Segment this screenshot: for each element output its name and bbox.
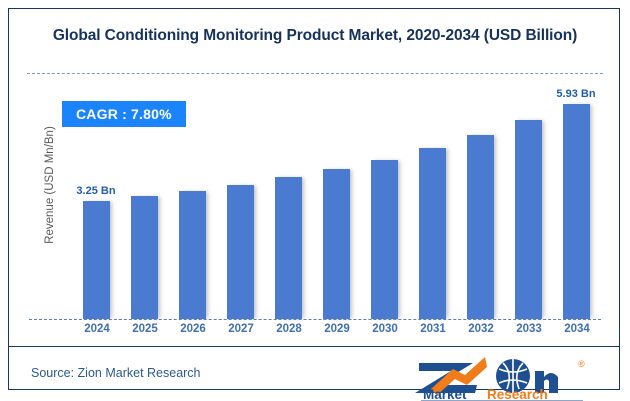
bar-2024[interactable] bbox=[83, 201, 110, 319]
bar-value-label-2034: 5.93 Bn bbox=[543, 88, 609, 100]
chart-card: Global Conditioning Monitoring Product M… bbox=[8, 8, 620, 390]
x-tick-2029: 2029 bbox=[313, 323, 361, 335]
footer-divider bbox=[9, 346, 619, 347]
bar-2031[interactable] bbox=[419, 148, 446, 319]
bar-2025[interactable] bbox=[131, 196, 158, 319]
source-note: Source: Zion Market Research bbox=[31, 366, 201, 380]
bar-2028[interactable] bbox=[275, 177, 302, 319]
x-tick-2026: 2026 bbox=[169, 323, 217, 335]
bar-2030[interactable] bbox=[371, 160, 398, 319]
bar-2027[interactable] bbox=[227, 185, 254, 319]
x-tick-2032: 2032 bbox=[457, 323, 505, 335]
bar-slot bbox=[169, 83, 217, 319]
x-tick-2034: 2034 bbox=[553, 323, 601, 335]
zion-market-research-logo: ® Market Research bbox=[407, 355, 597, 401]
logo-tagline-research: Research bbox=[487, 387, 548, 401]
bar-slot bbox=[505, 83, 553, 319]
x-tick-2033: 2033 bbox=[505, 323, 553, 335]
bar-slot: 3.25 Bn bbox=[73, 83, 121, 319]
x-tick-2027: 2027 bbox=[217, 323, 265, 335]
bar-2026[interactable] bbox=[179, 191, 206, 319]
title-divider bbox=[27, 73, 603, 74]
bar-slot bbox=[217, 83, 265, 319]
logo-tagline-market: Market bbox=[423, 387, 467, 401]
bar-slot bbox=[313, 83, 361, 319]
bar-slot bbox=[409, 83, 457, 319]
bar-value-label-2024: 3.25 Bn bbox=[63, 185, 129, 197]
chart-plot-area: Revenue (USD Mn/Bn) CAGR : 7.80% 3.25 Bn… bbox=[29, 83, 601, 331]
x-tick-2025: 2025 bbox=[121, 323, 169, 335]
bar-series: 3.25 Bn5.93 Bn bbox=[73, 83, 601, 319]
x-tick-2028: 2028 bbox=[265, 323, 313, 335]
bar-2029[interactable] bbox=[323, 169, 350, 319]
registered-mark: ® bbox=[578, 359, 585, 369]
bar-slot bbox=[361, 83, 409, 319]
y-axis-label: Revenue (USD Mn/Bn) bbox=[44, 100, 56, 270]
x-axis-line bbox=[29, 319, 601, 320]
bar-slot bbox=[457, 83, 505, 319]
page-title: Global Conditioning Monitoring Product M… bbox=[9, 27, 621, 45]
bar-2033[interactable] bbox=[515, 120, 542, 319]
x-tick-2024: 2024 bbox=[73, 323, 121, 335]
bar-2034[interactable] bbox=[563, 104, 590, 319]
bar-2032[interactable] bbox=[467, 135, 494, 319]
x-axis-tick-labels: 2024202520262027202820292030203120322033… bbox=[73, 323, 601, 345]
x-tick-2031: 2031 bbox=[409, 323, 457, 335]
x-tick-2030: 2030 bbox=[361, 323, 409, 335]
bar-slot bbox=[265, 83, 313, 319]
bar-slot: 5.93 Bn bbox=[553, 83, 601, 319]
bar-slot bbox=[121, 83, 169, 319]
